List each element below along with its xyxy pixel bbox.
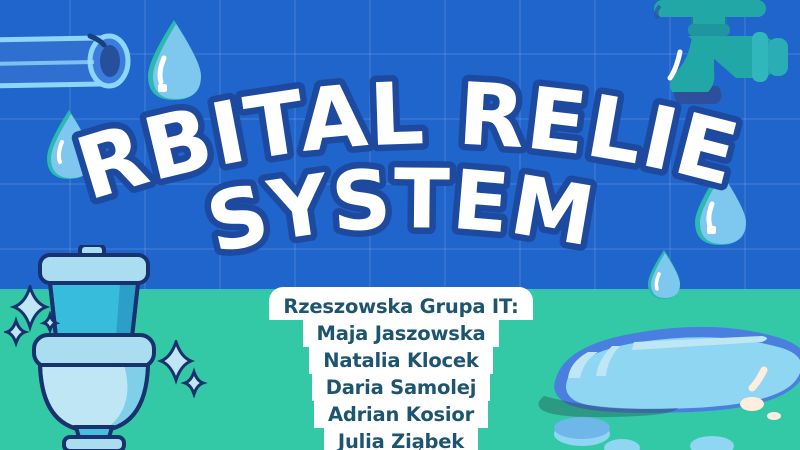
credits-member-name: Julia Ziąbek <box>324 428 478 450</box>
credits-panel: Rzeszowska Grupa IT: Maja Jaszowska Nata… <box>283 287 519 450</box>
water-puddle-illustration <box>516 300 800 450</box>
credits-member-name: Daria Samolej <box>312 374 491 401</box>
faucet-illustration <box>640 0 800 116</box>
sparkle <box>4 285 64 347</box>
credits-member-name: Natalia Klocek <box>309 347 492 374</box>
water-droplet <box>644 248 684 304</box>
sparkle <box>152 340 208 398</box>
toilet-illustration <box>24 245 164 450</box>
credits-member-name: Adrian Kosior <box>314 401 488 428</box>
poster-slide: ORBITAL RELIEF SYSTEM Rzeszowska Grupa I… <box>0 0 800 450</box>
water-droplet <box>142 18 206 110</box>
water-droplet <box>690 168 750 254</box>
credits-member-name: Maja Jaszowska <box>303 320 500 347</box>
credits-heading: Rzeszowska Grupa IT: <box>269 287 532 320</box>
broken-pipe-illustration <box>0 18 156 104</box>
water-droplet <box>42 108 96 186</box>
